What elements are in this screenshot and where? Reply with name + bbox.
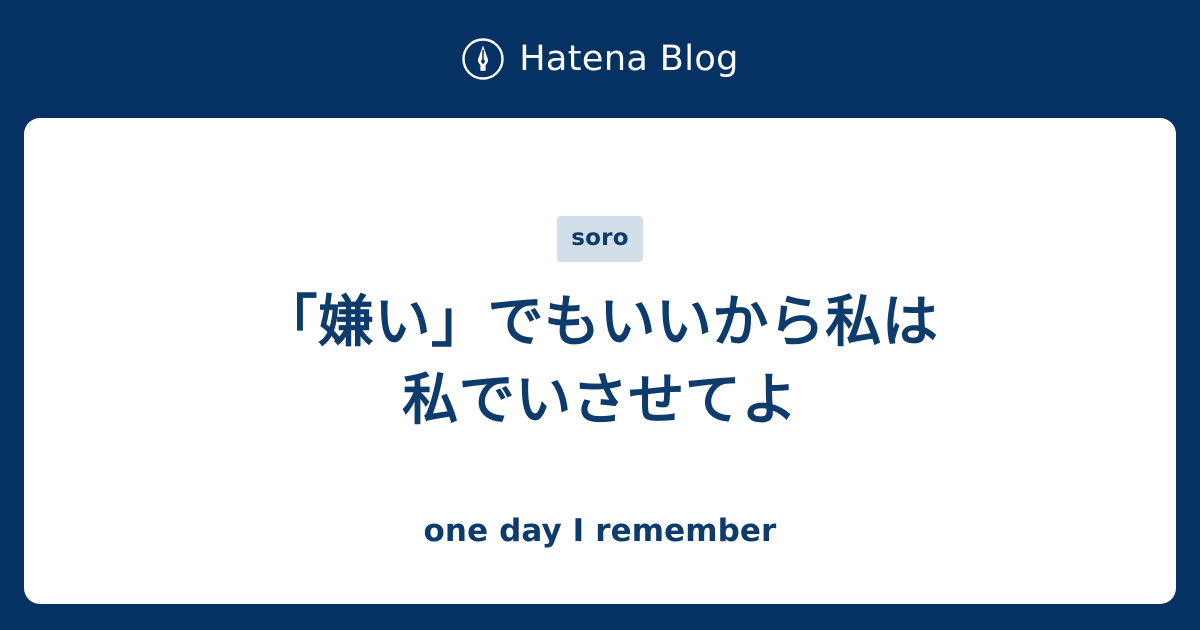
entry-card: soro 「嫌い」でもいいから私は私でいさせてよ one day I remem… — [24, 118, 1176, 604]
brand-name: Hatena Blog — [519, 42, 739, 77]
category-badge[interactable]: soro — [557, 216, 642, 262]
ogp-card-root: Hatena Blog soro 「嫌い」でもいいから私は私でいさせてよ one… — [0, 0, 1200, 630]
entry-title: 「嫌い」でもいいから私は私でいさせてよ — [250, 284, 950, 441]
hatena-pen-nib-icon — [461, 37, 505, 81]
brand-header: Hatena Blog — [0, 0, 1200, 118]
blog-title[interactable]: one day I remember — [24, 516, 1176, 547]
